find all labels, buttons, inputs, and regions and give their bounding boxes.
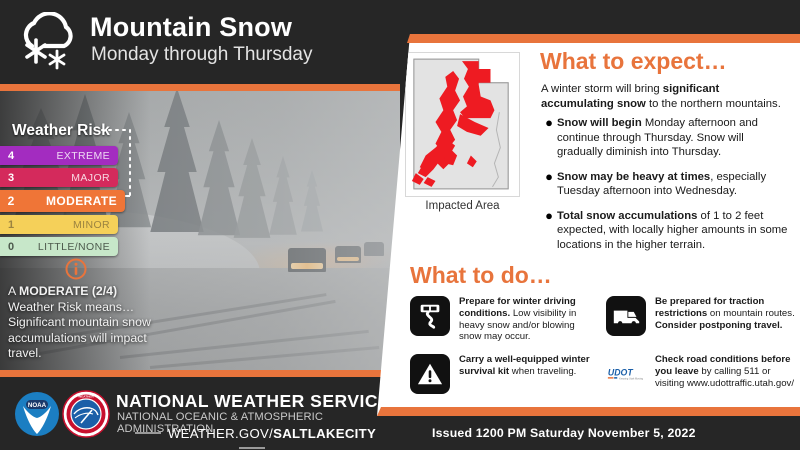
todo-item-traction-restrictions: Be prepared for traction restrictions on… xyxy=(606,296,797,336)
todo-3-rest: when traveling. xyxy=(509,366,576,377)
agency-name: NATIONAL WEATHER SERVICE xyxy=(116,391,390,412)
risk-level-list: 4 EXTREME 3 MAJOR 2 MODERATE 1 MINOR 0 xyxy=(0,146,150,259)
header-bar: Mountain Snow Monday through Thursday xyxy=(0,0,400,84)
udot-logo-text: UDOT xyxy=(608,367,633,377)
risk-level-extreme[interactable]: 4 EXTREME xyxy=(0,146,118,165)
risk-level-label: MODERATE xyxy=(22,194,125,208)
risk-level-number: 2 xyxy=(0,194,22,208)
risk-meaning-text: A MODERATE (2/4) Weather Risk means… Sig… xyxy=(8,284,158,362)
expect-bullet: ● Snow will begin Monday afternoon and c… xyxy=(541,116,791,160)
info-circle-icon xyxy=(65,258,87,280)
weather-risk-title: Weather Risk xyxy=(12,122,110,140)
todo-item-text: Be prepared for traction restrictions on… xyxy=(655,296,797,331)
udot-logo-tagline: Keeping Utah Moving xyxy=(619,377,644,380)
bullet-dot-icon: ● xyxy=(541,209,557,253)
intro-part-1: A winter storm will bring xyxy=(541,83,663,95)
divider-dash-right xyxy=(239,447,265,449)
divider-dash-left xyxy=(135,432,161,434)
nws-seal-logo: WEATHER NATIONAL xyxy=(62,390,110,438)
todo-item-text: Prepare for winter driving conditions. L… xyxy=(459,296,594,343)
warning-triangle-icon xyxy=(410,354,450,394)
todo-item-text: Check road conditions before you leave b… xyxy=(655,354,797,389)
risk-level-number: 4 xyxy=(0,150,22,162)
risk-level-moderate-active[interactable]: 2 MODERATE xyxy=(0,190,125,212)
risk-meaning-bold: MODERATE (2/4) xyxy=(19,284,117,298)
what-to-expect-bullets: ● Snow will begin Monday afternoon and c… xyxy=(541,116,791,262)
page-subtitle: Monday through Thursday xyxy=(91,44,312,66)
todo-2-mid: on mountain routes. xyxy=(707,308,794,319)
bullet-dot-icon: ● xyxy=(541,116,557,160)
expect-bullet: ● Snow may be heavy at times, especially… xyxy=(541,170,791,199)
left-column: Mountain Snow Monday through Thursday We… xyxy=(0,0,400,450)
risk-level-number: 0 xyxy=(0,241,22,253)
todo-item-survival-kit: Carry a well-equipped winter survival ki… xyxy=(410,354,594,394)
udot-logo: UDOT Keeping Utah Moving xyxy=(606,354,646,394)
bullet-2-bold: Snow may be heavy at times xyxy=(557,171,710,183)
nws-footer: NOAA WEATHER NATIONAL xyxy=(0,377,400,450)
risk-level-minor[interactable]: 1 MINOR xyxy=(0,215,118,234)
risk-level-label: LITTLE/NONE xyxy=(22,241,118,253)
risk-level-major[interactable]: 3 MAJOR xyxy=(0,168,118,187)
expect-bullet-text: Snow will begin Monday afternoon and con… xyxy=(557,116,791,160)
expect-bullet-text: Snow may be heavy at times, especially T… xyxy=(557,170,791,199)
website-prefix: WEATHER.GOV/ xyxy=(168,426,273,441)
orange-divider-top xyxy=(0,84,400,91)
intro-part-3: to the northern mountains. xyxy=(646,98,781,110)
bullet-dot-icon: ● xyxy=(541,170,557,199)
what-to-expect-heading: What to expect… xyxy=(540,48,727,75)
risk-meaning-rest: Weather Risk means… Significant mountain… xyxy=(8,300,151,361)
what-to-do-heading: What to do… xyxy=(410,262,552,289)
risk-level-number: 3 xyxy=(0,172,22,184)
orange-divider-bottom xyxy=(0,370,400,377)
svg-text:NATIONAL: NATIONAL xyxy=(78,432,94,436)
impacted-area-map xyxy=(405,52,520,197)
risk-level-label: MAJOR xyxy=(22,172,118,184)
expect-bullet: ● Total snow accumulations of 1 to 2 fee… xyxy=(541,209,791,253)
risk-level-label: MINOR xyxy=(22,219,118,231)
slippery-road-icon xyxy=(410,296,450,336)
weather-graphic: Mountain Snow Monday through Thursday We… xyxy=(0,0,800,450)
office-website: WEATHER.GOV/SALTLAKECITY xyxy=(117,426,387,450)
todo-item-text: Carry a well-equipped winter survival ki… xyxy=(459,354,594,378)
bullet-1-bold: Snow will begin xyxy=(557,117,642,129)
page-title: Mountain Snow xyxy=(90,12,292,42)
issued-timestamp: Issued 1200 PM Saturday November 5, 2022 xyxy=(432,426,696,440)
todo-2-bold2: Consider postponing travel. xyxy=(655,320,782,331)
risk-level-little-none[interactable]: 0 LITTLE/NONE xyxy=(0,237,118,256)
what-to-expect-intro: A winter storm will bring significant ac… xyxy=(541,82,786,111)
todo-item-winter-driving: Prepare for winter driving conditions. L… xyxy=(410,296,594,343)
panel-orange-stripe-top xyxy=(355,34,800,43)
svg-text:NOAA: NOAA xyxy=(28,402,47,409)
truck-icon xyxy=(606,296,646,336)
expect-bullet-text: Total snow accumulations of 1 to 2 feet … xyxy=(557,209,791,253)
todo-item-road-conditions: UDOT Keeping Utah Moving Check road cond… xyxy=(606,354,797,394)
risk-level-number: 1 xyxy=(0,219,22,231)
bullet-3-bold: Total snow accumulations xyxy=(557,210,697,222)
snow-cloud-icon xyxy=(10,12,84,74)
map-caption: Impacted Area xyxy=(390,200,535,212)
info-panel: Impacted Area What to expect… A winter s… xyxy=(355,34,800,416)
risk-meaning-lead: A xyxy=(8,284,19,298)
noaa-logo: NOAA xyxy=(14,391,60,437)
issued-bar: Issued 1200 PM Saturday November 5, 2022 xyxy=(400,416,800,450)
svg-text:WEATHER: WEATHER xyxy=(78,394,94,398)
website-office: SALTLAKECITY xyxy=(273,426,376,441)
risk-level-label: EXTREME xyxy=(22,150,118,162)
panel-orange-stripe-bottom xyxy=(355,407,800,416)
